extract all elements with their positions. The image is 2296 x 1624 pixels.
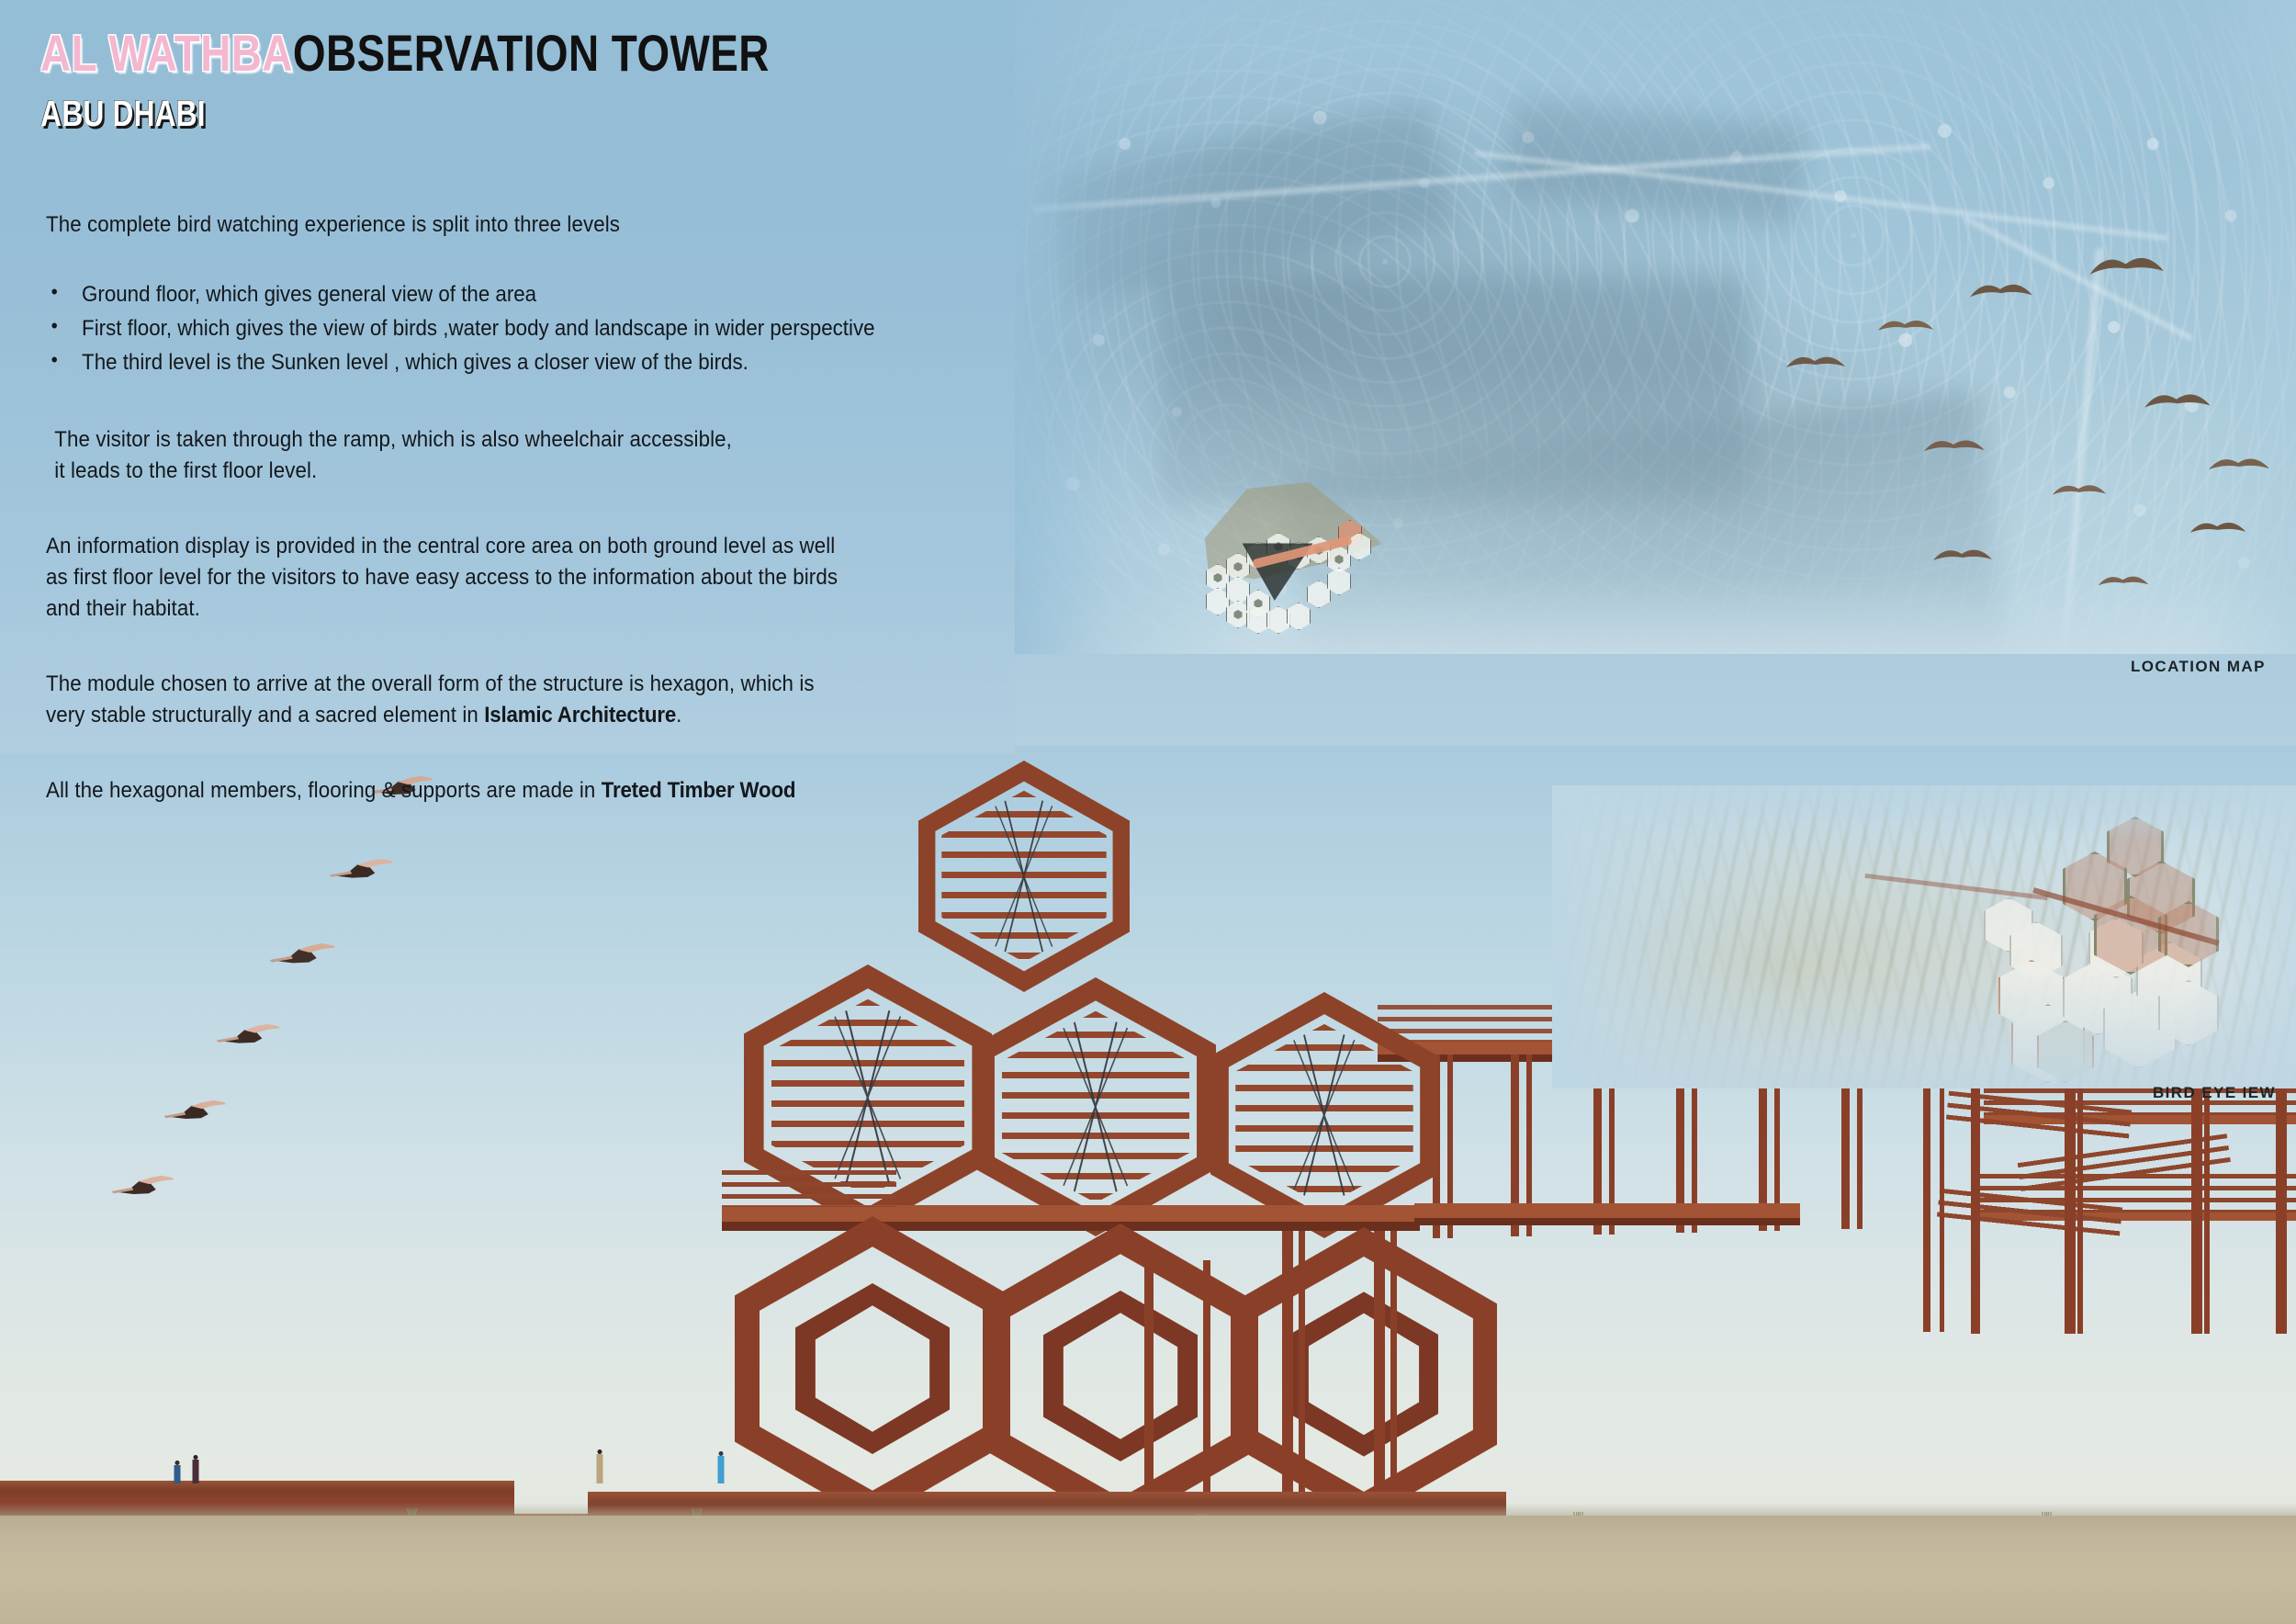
balcony-railing — [722, 1170, 896, 1207]
flamingo-icon — [213, 1021, 281, 1053]
information-display-paragraph: An information display is provided in th… — [46, 531, 917, 625]
bird-icon — [2051, 478, 2110, 503]
text-panel: AL WATHBAOBSERVATION TOWER ABU DHABI The… — [0, 0, 1015, 753]
bird-eye-view-image — [1552, 785, 2296, 1088]
islamic-architecture-emphasis: Islamic Architecture — [484, 703, 676, 727]
hex-leg-center — [983, 1224, 1258, 1528]
visitor-figure — [173, 1460, 182, 1490]
location-map-label: LOCATION MAP — [2131, 658, 2266, 676]
material-paragraph: All the hexagonal members, flooring & su… — [46, 775, 917, 806]
location-map-image — [995, 0, 2296, 654]
intro-paragraph: The complete bird watching experience is… — [46, 209, 917, 241]
material-paragraph-text: All the hexagonal members, flooring & su… — [46, 778, 602, 803]
map-edge-fade — [995, 0, 2296, 654]
support-column — [1390, 1231, 1397, 1514]
bird-icon — [2097, 570, 2152, 593]
list-item: The third level is the Sunken level , wh… — [46, 345, 917, 379]
flamingo-icon — [326, 856, 394, 887]
visitor-figure — [716, 1451, 726, 1490]
bird-icon — [1968, 276, 2036, 307]
support-column — [1203, 1260, 1210, 1517]
module-paragraph-tail: . — [676, 703, 681, 727]
visitor-figure — [191, 1455, 200, 1490]
bird-icon — [1784, 349, 1849, 377]
ramp-column — [1923, 1049, 1930, 1332]
bird-eye-haze-overlay — [1552, 785, 2296, 1088]
module-paragraph: The module chosen to arrive at the overa… — [46, 669, 917, 731]
page-title: AL WATHBAOBSERVATION TOWER — [40, 28, 770, 79]
page-subtitle: ABU DHABI — [40, 94, 752, 135]
bird-icon — [2143, 386, 2214, 417]
ramp-column — [1940, 1049, 1944, 1332]
bird-icon — [2207, 450, 2273, 479]
support-column — [1299, 1231, 1305, 1516]
hex-leg-right — [1231, 1227, 1497, 1521]
hex-leg-left — [735, 1216, 1010, 1521]
site-marker-hexagon-cluster — [1199, 514, 1373, 620]
bird-icon — [1931, 542, 1996, 570]
hex-module-right — [1210, 992, 1438, 1238]
list-item: First floor, which gives the view of bir… — [46, 311, 917, 345]
flamingo-icon — [161, 1098, 227, 1128]
entry-ramp-top — [0, 1481, 514, 1490]
flamingo-icon — [108, 1173, 174, 1203]
flamingo-icon — [266, 941, 336, 973]
timber-wood-emphasis: Treted Timber Wood — [602, 778, 796, 803]
levels-list: Ground floor, which gives general view o… — [46, 277, 983, 380]
walkway-deck-link — [1414, 1203, 1800, 1218]
presentation-board: LOCATION MAP BIRD EYE IEW — [0, 0, 2296, 1624]
title-rest: OBSERVATION TOWER — [293, 24, 770, 82]
bird-icon — [1876, 312, 1937, 340]
support-column — [1144, 1260, 1154, 1517]
support-column — [1282, 1231, 1293, 1516]
title-block: AL WATHBAOBSERVATION TOWER ABU DHABI — [40, 28, 929, 135]
bird-icon — [2189, 514, 2249, 542]
bird-eye-view-label: BIRD EYE IEW — [2153, 1084, 2276, 1102]
list-item: Ground floor, which gives general view o… — [46, 277, 917, 311]
ramp-paragraph: The visitor is taken through the ramp, w… — [46, 424, 917, 487]
support-column — [1374, 1231, 1385, 1514]
bird-icon — [1922, 432, 1988, 461]
bird-icon — [2088, 248, 2168, 285]
walkway-deck-link-edge — [1414, 1218, 1800, 1225]
title-highlight: AL WATHBA — [40, 24, 293, 82]
module-paragraph-text: The module chosen to arrive at the overa… — [46, 671, 815, 727]
hex-module-center — [975, 977, 1216, 1236]
desert-ground — [0, 1516, 2296, 1624]
description-text: The complete bird watching experience is… — [46, 209, 983, 806]
visitor-figure — [595, 1449, 604, 1490]
